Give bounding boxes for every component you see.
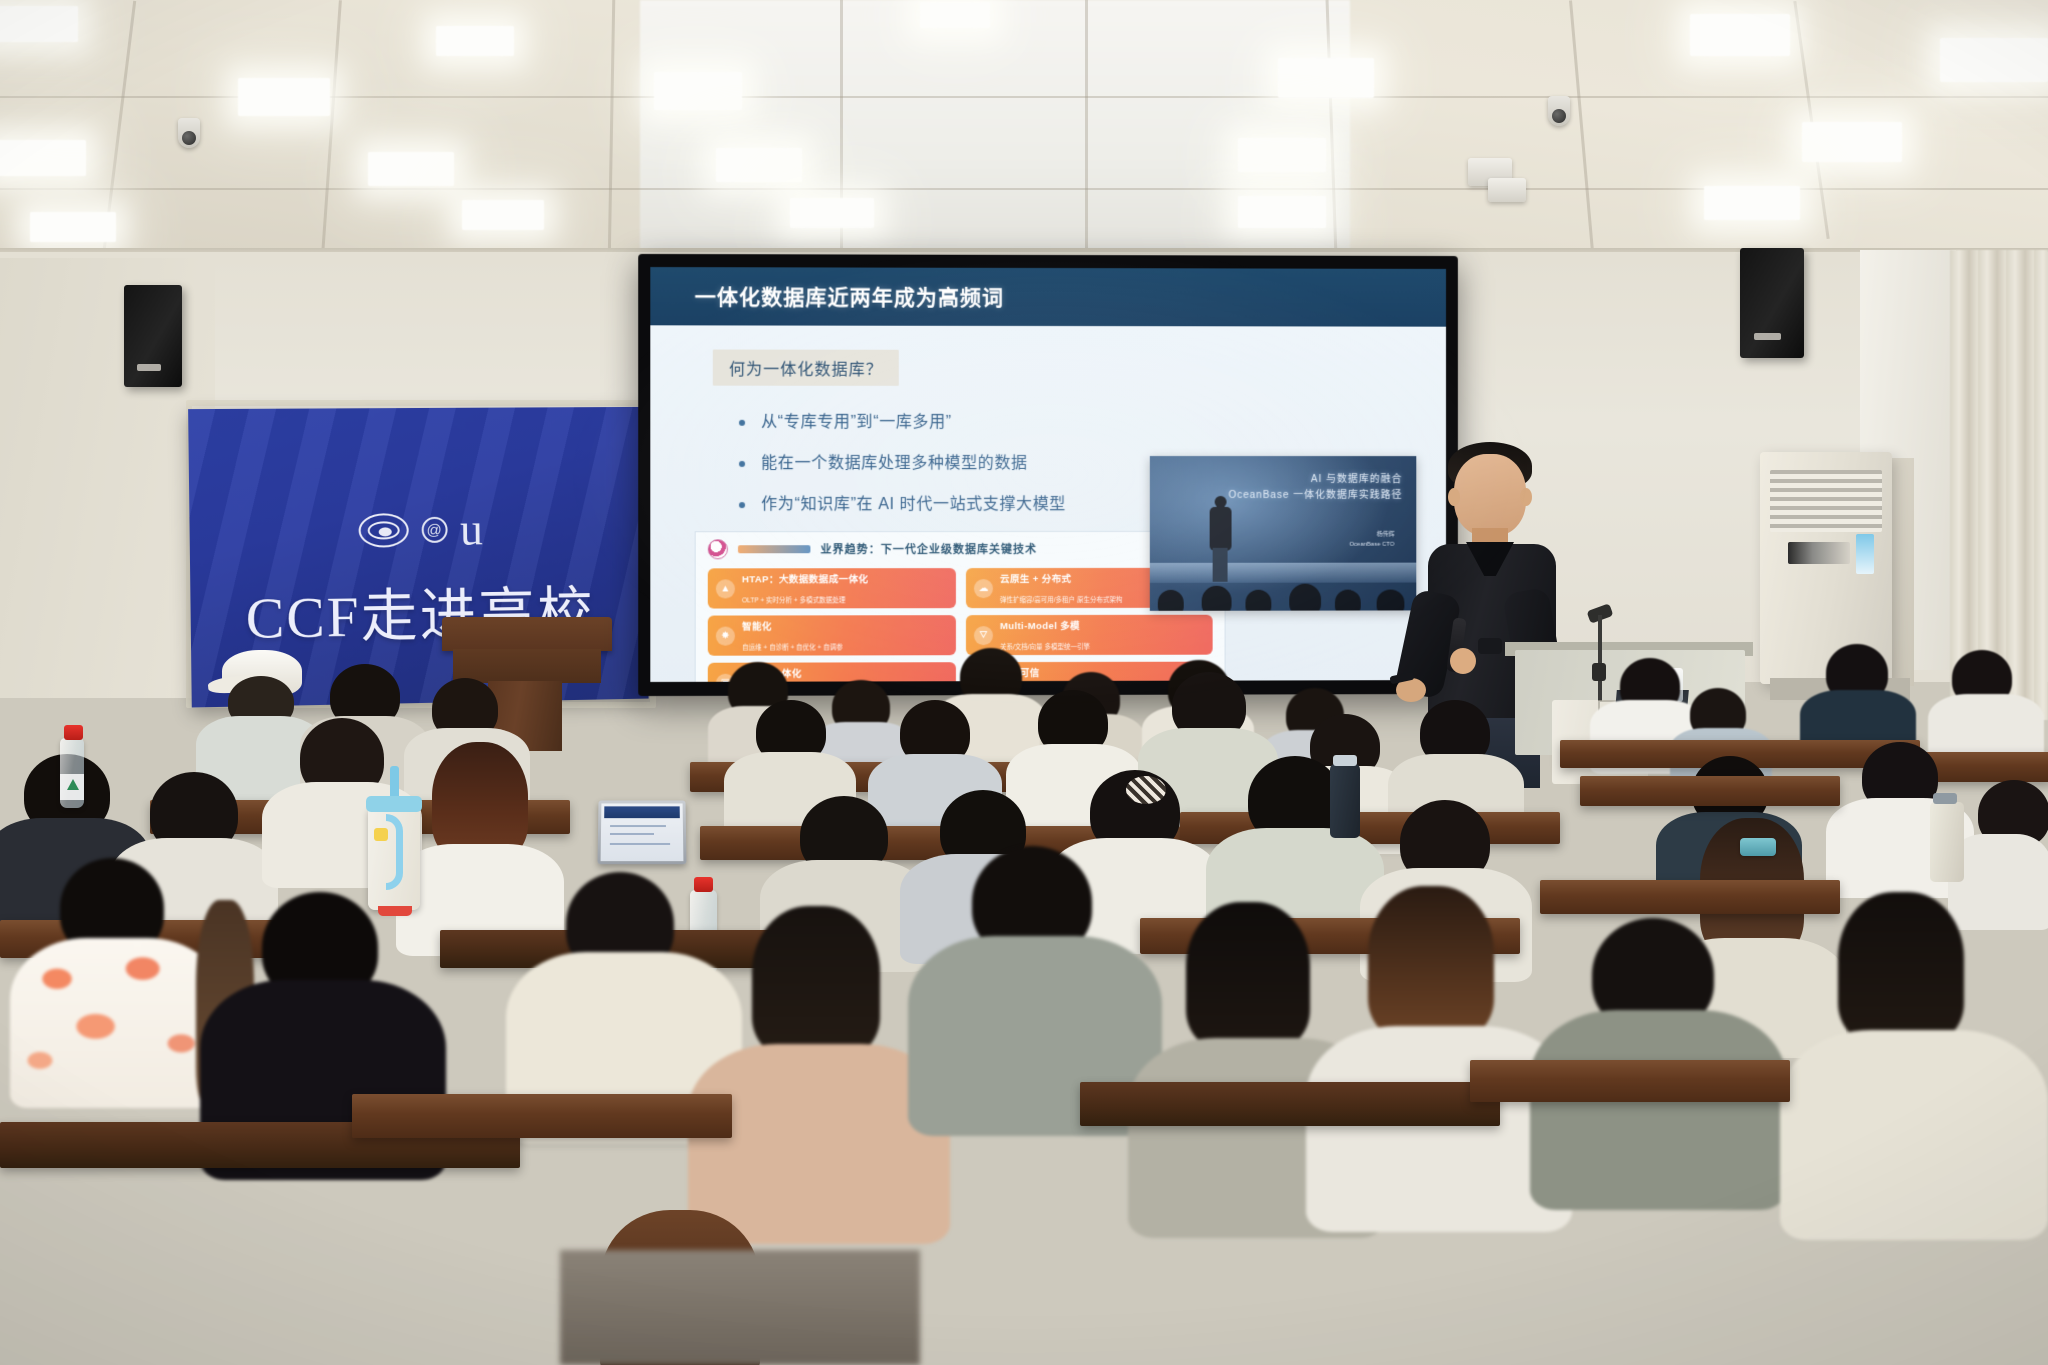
desk-foreground xyxy=(352,1094,732,1138)
tumbler-cup xyxy=(368,806,420,910)
card-subtitle: 自运维 + 自诊断 + 自优化 + 自调参 xyxy=(742,644,843,651)
tumbler-base xyxy=(378,906,412,916)
photo-speaker-credit: 杨传辉 OceanBase CTO xyxy=(1349,530,1394,550)
microphone-stand xyxy=(1598,615,1602,701)
audience-body xyxy=(1530,1010,1786,1210)
tumbler-sticker xyxy=(374,828,388,841)
audience-body-floral-shirt xyxy=(10,938,224,1108)
audience-head-long-hair xyxy=(1368,886,1494,1038)
ceiling-light xyxy=(790,198,874,228)
audience-head-long-hair xyxy=(432,742,528,860)
ceiling-light xyxy=(654,72,742,110)
audience-head-long-hair xyxy=(1838,892,1964,1042)
card-subtitle: 弹性扩缩容/高可用/多租户 原生分布式架构 xyxy=(1000,597,1122,604)
photo-title: AI 与数据库的融合 OceanBase 一体化数据库实践路径 xyxy=(1229,472,1403,504)
ceiling-light xyxy=(1690,14,1790,56)
ceiling xyxy=(0,0,2048,268)
sub-slide-logo-bar-icon xyxy=(738,545,810,553)
bottle-cap xyxy=(64,725,83,740)
sub-slide-header: 业界趋势：下一代企业级数据库关键技术 xyxy=(696,532,1225,561)
desk-row-c xyxy=(1540,880,1840,914)
vacuum-flask xyxy=(1930,802,1964,882)
sub-slide-card: ⛛ Multi-Model 多模 关系/文档/向量 多模型统一引擎 xyxy=(966,615,1213,655)
ccf-logo-icon xyxy=(358,514,408,549)
ac-vent-grille xyxy=(1770,470,1882,532)
ceiling-seam xyxy=(1085,0,1088,258)
ceiling-sensor xyxy=(1488,178,1526,202)
slide-surface: 一体化数据库近两年成为高频词 何为一体化数据库？ 从“专库专用”到“一库多用” … xyxy=(650,267,1446,682)
laptop-text-line xyxy=(610,843,670,845)
cloud-icon: ☁ xyxy=(974,579,993,598)
embedded-conference-photo: AI 与数据库的融合 OceanBase 一体化数据库实践路径 杨传辉 Ocea… xyxy=(1150,456,1416,611)
hair-clip xyxy=(1740,838,1776,856)
ceiling-light xyxy=(30,212,116,242)
card-title: Multi-Model 多模 xyxy=(1000,621,1080,632)
laptop-screen-titlebar xyxy=(604,806,680,818)
presenter-right-hand xyxy=(1450,648,1476,674)
photo-stage-speaker xyxy=(1208,496,1234,580)
vacuum-flask xyxy=(1330,764,1360,838)
ceiling-light xyxy=(1238,138,1326,172)
tumbler-handle xyxy=(386,814,403,890)
slide-body: 何为一体化数据库？ 从“专库专用”到“一库多用” 能在一个数据库处理多种模型的数… xyxy=(650,325,1446,682)
ceiling-camera-left-icon xyxy=(178,118,200,148)
audience-laptop xyxy=(598,801,687,865)
laptop-screen xyxy=(601,803,684,861)
presenter-head xyxy=(1454,454,1526,536)
presenter-wristwatch xyxy=(1478,638,1502,654)
presentation-screen: 一体化数据库近两年成为高频词 何为一体化数据库？ 从“专库专用”到“一库多用” … xyxy=(638,254,1458,696)
at-symbol-icon: @ xyxy=(421,517,447,543)
laptop-text-line xyxy=(610,833,654,835)
flask-cap xyxy=(1333,755,1357,766)
banner-logos: @ u xyxy=(189,510,646,552)
ceiling-light xyxy=(716,148,802,182)
card-title: 智能化 xyxy=(742,621,772,632)
wall-speaker-right-icon xyxy=(1740,248,1804,358)
desk-row-b xyxy=(1580,776,1840,806)
ceiling-seam xyxy=(608,0,616,258)
gear-icon: ✸ xyxy=(716,626,735,645)
ceiling-light xyxy=(368,152,454,186)
ceiling-light xyxy=(1238,196,1326,228)
card-title: HTAP：大数据数据成一体化 xyxy=(742,574,868,585)
sub-slide-logo-icon xyxy=(708,539,728,559)
u-mark-icon: u xyxy=(460,511,483,548)
ceiling-light xyxy=(0,140,86,176)
ceiling-seam xyxy=(321,0,342,255)
sub-slide-card: ▲ HTAP：大数据数据成一体化 OLTP + 实时分析 + 多模式数据处理 xyxy=(708,568,956,608)
laptop-text-line xyxy=(610,825,666,827)
microphone-clamp xyxy=(1592,663,1606,681)
ceiling-camera-right-icon xyxy=(1548,96,1570,126)
slide-bullet: 从“专库专用”到“一库多用” xyxy=(735,402,1335,443)
sub-slide-card: ✸ 智能化 自运维 + 自诊断 + 自优化 + 自调参 xyxy=(708,615,956,656)
card-subtitle: OLTP + 实时分析 + 多模式数据处理 xyxy=(742,597,845,604)
audience-body xyxy=(1780,1030,2048,1240)
card-subtitle: 关系/文档/向量 多模型统一引擎 xyxy=(1000,644,1090,651)
ceiling-light xyxy=(462,200,544,230)
lecture-hall-photo: @ u CCF走进高校 一体化数据库近两年成为高频词 何为一体化数据库？ 从“专… xyxy=(0,0,2048,1365)
sub-slide-card-grid: ▲ HTAP：大数据数据成一体化 OLTP + 实时分析 + 多模式数据处理 ☁… xyxy=(696,561,1225,682)
embedded-sub-slide: 业界趋势：下一代企业级数据库关键技术 ▲ HTAP：大数据数据成一体化 OLTP… xyxy=(695,531,1226,682)
ceiling-light xyxy=(920,2,990,28)
presenter-ear xyxy=(1448,488,1460,506)
desk-foreground xyxy=(1470,1060,1790,1102)
left-wall xyxy=(0,258,215,698)
water-bottle xyxy=(60,738,84,808)
lectern-mid xyxy=(453,649,601,683)
ceiling-seam xyxy=(1569,0,1594,251)
ceiling-light xyxy=(1940,38,2048,82)
ceiling-light xyxy=(238,78,330,116)
ac-energy-sticker xyxy=(1856,534,1874,574)
slide-question-chip: 何为一体化数据库？ xyxy=(713,350,899,386)
audience-head-long-hair xyxy=(1186,902,1310,1048)
card-title: 云原生 + 分布式 xyxy=(1000,574,1071,585)
photo-audience-silhouettes xyxy=(1150,581,1416,611)
ceiling-light xyxy=(1278,58,1374,98)
audience-head-long-hair xyxy=(752,906,880,1056)
lectern-top xyxy=(442,617,612,651)
ceiling-light xyxy=(0,6,78,42)
ceiling-light xyxy=(1802,122,1902,162)
ceiling-light xyxy=(1704,186,1800,220)
layers-icon: ▲ xyxy=(716,579,735,598)
floor-aisle xyxy=(560,1250,920,1365)
desk-foreground xyxy=(1080,1082,1500,1126)
sub-slide-heading: 业界趋势：下一代企业级数据库关键技术 xyxy=(820,541,1037,557)
presenter-ear xyxy=(1520,488,1532,506)
tumbler-lid xyxy=(366,796,422,812)
slide-title: 一体化数据库近两年成为高频词 xyxy=(650,267,1446,327)
model-icon: ⛛ xyxy=(974,626,993,645)
ac-display-panel xyxy=(1788,542,1850,564)
window-curtain xyxy=(1950,250,2048,720)
ceiling-light xyxy=(436,26,514,56)
bottle-label xyxy=(60,774,84,800)
flask-cap xyxy=(1933,793,1957,804)
wall-speaker-left-icon xyxy=(124,285,182,387)
bottle-cap xyxy=(694,877,713,892)
hair-scrunchie xyxy=(1126,776,1166,804)
